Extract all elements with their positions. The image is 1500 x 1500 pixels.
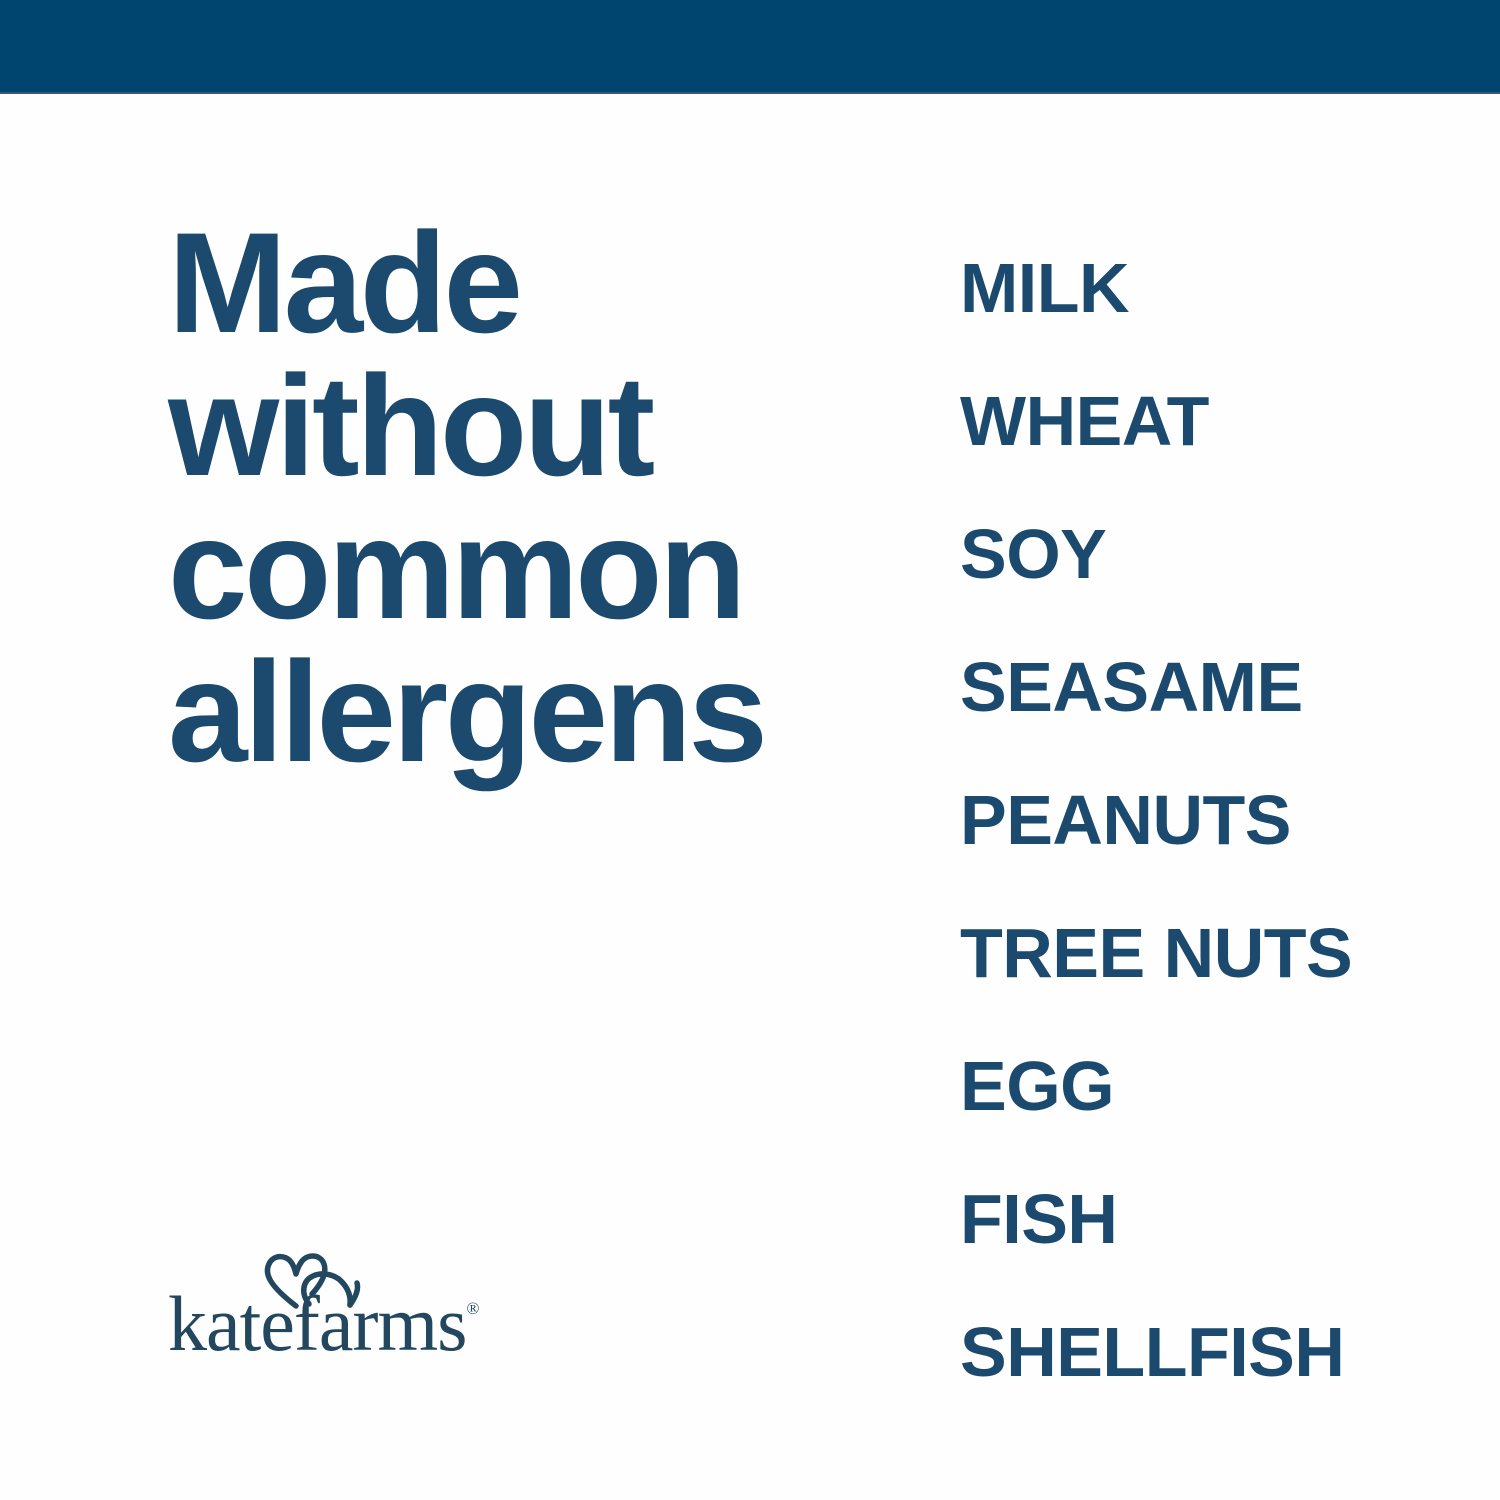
top-banner-bar — [0, 0, 1500, 92]
allergen-list: MILK WHEAT SOY SEASAME PEANUTS TREE NUTS… — [960, 222, 1460, 1419]
list-item: SHELLFISH — [960, 1286, 1460, 1419]
list-item: FISH — [960, 1153, 1460, 1286]
registered-trademark-symbol: ® — [467, 1299, 480, 1318]
list-item: EGG — [960, 1020, 1460, 1153]
headline-line-4: allergens — [168, 641, 868, 784]
headline-line-2: without — [168, 355, 868, 498]
brand-logo: katefarms® — [168, 1250, 513, 1346]
list-item: MILK — [960, 222, 1460, 355]
list-item: WHEAT — [960, 355, 1460, 488]
list-item: SEASAME — [960, 621, 1460, 754]
logo-wordmark: katefarms® — [168, 1270, 479, 1363]
main-content: Made without common allergens katefarms® — [0, 92, 1500, 1500]
list-item: PEANUTS — [960, 754, 1460, 887]
promo-graphic: Made without common allergens katefarms® — [0, 0, 1500, 1500]
logo-wordmark-text: katefarms — [168, 1280, 467, 1367]
list-item: SOY — [960, 488, 1460, 621]
headline-line-1: Made — [168, 212, 868, 355]
headline-line-3: common — [168, 498, 868, 641]
list-item: TREE NUTS — [960, 887, 1460, 1020]
page-title: Made without common allergens — [168, 212, 868, 784]
